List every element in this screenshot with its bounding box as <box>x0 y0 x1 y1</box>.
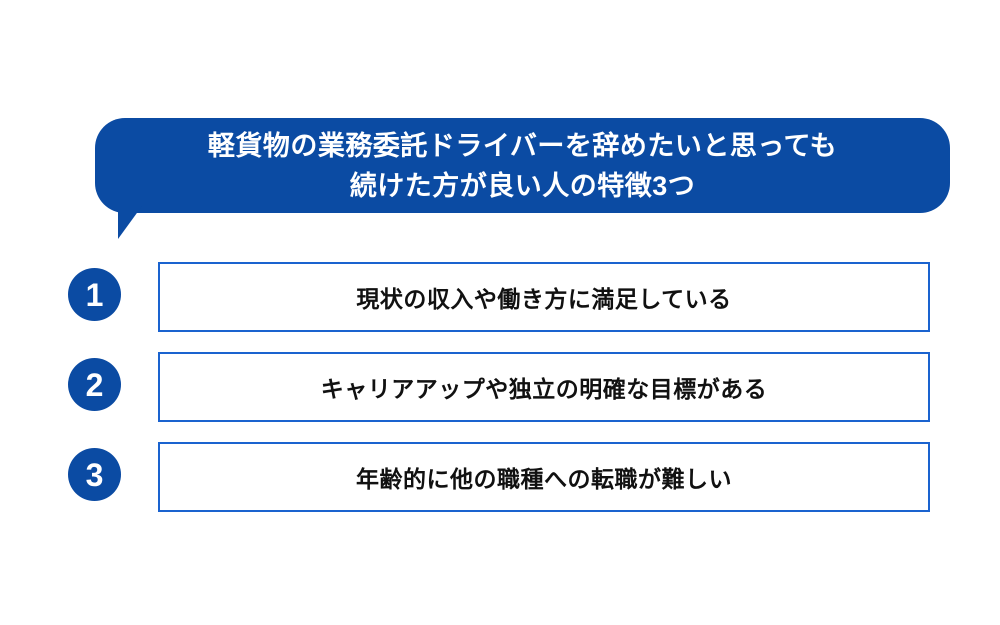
list-item: 1 現状の収入や働き方に満足している <box>0 262 1000 332</box>
infographic-canvas: 軽貨物の業務委託ドライバーを辞めたいと思っても 続けた方が良い人の特徴3つ 1 … <box>0 0 1000 625</box>
list-item: 3 年齢的に他の職種への転職が難しい <box>0 442 1000 512</box>
header-bubble-body: 軽貨物の業務委託ドライバーを辞めたいと思っても 続けた方が良い人の特徴3つ <box>95 118 950 213</box>
speech-bubble-tail-icon <box>118 206 142 239</box>
list-item-number-badge-1: 1 <box>68 268 121 321</box>
list-item-box-2: キャリアアップや独立の明確な目標がある <box>158 352 930 422</box>
feature-list: 1 現状の収入や働き方に満足している 2 キャリアアップや独立の明確な目標がある… <box>0 262 1000 512</box>
header-speech-bubble: 軽貨物の業務委託ドライバーを辞めたいと思っても 続けた方が良い人の特徴3つ <box>95 118 950 213</box>
list-item: 2 キャリアアップや独立の明確な目標がある <box>0 352 1000 422</box>
list-item-number-badge-2: 2 <box>68 358 121 411</box>
list-item-label-2: キャリアアップや独立の明確な目標がある <box>321 370 768 404</box>
list-item-label-3: 年齢的に他の職種への転職が難しい <box>356 460 732 494</box>
list-item-number-badge-3: 3 <box>68 448 121 501</box>
list-item-box-3: 年齢的に他の職種への転職が難しい <box>158 442 930 512</box>
list-item-box-1: 現状の収入や働き方に満足している <box>158 262 930 332</box>
header-title-line-1: 軽貨物の業務委託ドライバーを辞めたいと思っても <box>208 126 837 166</box>
list-item-label-1: 現状の収入や働き方に満足している <box>356 280 731 314</box>
header-title-line-2: 続けた方が良い人の特徴3つ <box>350 166 696 206</box>
